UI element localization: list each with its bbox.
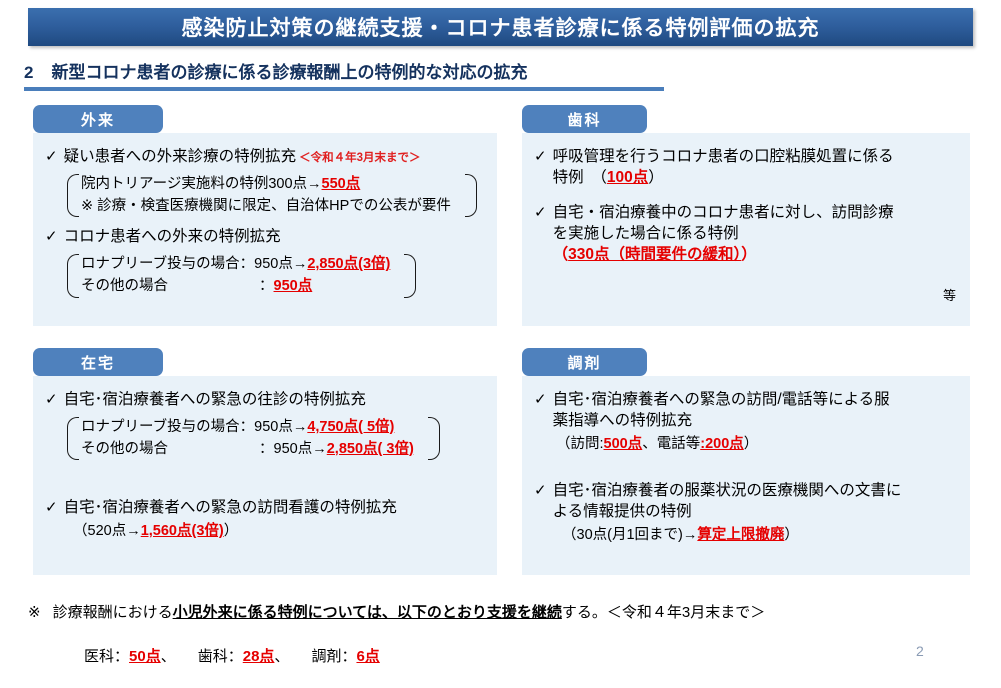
- zaitaku-bracket-1-line2-pre: その他の場合 ：950点→: [81, 441, 327, 457]
- chouzai-bullet-2-line1: 自宅･宿泊療養者の服薬状況の医療機関への文書に: [553, 482, 902, 499]
- panel-tab-gairai-label: 外来: [81, 109, 115, 130]
- chouzai-bullet-1-sub-mid: 、電話等: [642, 436, 700, 452]
- zaitaku-bracket-1-line2: その他の場合 ：950点→2,850点( 3倍): [81, 439, 414, 461]
- shika-tail-nado: 等: [943, 285, 956, 304]
- chouzai-bullet-1-sub-post: ）: [744, 436, 759, 452]
- shika-bullet-1-text: 呼吸管理を行うコロナ患者の口腔粘膜処置に係る 特例 （100点）: [553, 147, 894, 189]
- check-icon: ✓: [45, 227, 58, 247]
- gairai-bracket-2: ロナプリーブ投与の場合：950点→2,850点(3倍) その他の場合 ：950点: [67, 252, 416, 300]
- zaitaku-bullet-1-text: 自宅･宿泊療養者への緊急の往診の特例拡充: [64, 390, 366, 411]
- chouzai-bullet-1-sub-pre: （訪問:: [556, 436, 604, 452]
- shika-bullet-1-line2-pre: 特例 （: [553, 169, 607, 186]
- gairai-bracket-2-line1: ロナプリーブ投与の場合：950点→2,850点(3倍): [81, 254, 390, 276]
- zaitaku-bullet-2-sub: （520点→1,560点(3倍)）: [73, 521, 485, 542]
- footer-chouzai-label: 調剤：: [311, 648, 356, 665]
- panel-tab-zaitaku-label: 在宅: [81, 352, 115, 373]
- slide-title-text: 感染防止対策の継続支援・コロナ患者診療に係る特例評価の拡充: [182, 12, 820, 42]
- shika-bullet-1-line1: 呼吸管理を行うコロナ患者の口腔粘膜処置に係る: [553, 148, 894, 165]
- check-icon: ✓: [45, 147, 58, 167]
- shika-bullet-2-line3-pre: （: [553, 246, 569, 263]
- zaitaku-bullet-2-text: 自宅･宿泊療養者への緊急の訪問看護の特例拡充: [64, 498, 397, 519]
- footer-sep-1: 、: [161, 648, 176, 665]
- chouzai-bullet-2-line2: よる情報提供の特例: [553, 503, 692, 520]
- gairai-bracket-2-line1-pre: ロナプリーブ投与の場合：950点→: [81, 256, 307, 272]
- footer-note-post: する。＜令和４年3月末まで＞: [562, 604, 765, 621]
- gairai-bullet-1-note: ＜令和４年3月末まで＞: [299, 152, 420, 164]
- shika-bullet-1: ✓ 呼吸管理を行うコロナ患者の口腔粘膜処置に係る 特例 （100点）: [534, 147, 958, 189]
- chouzai-bullet-1-value-phone: :200点: [700, 436, 744, 452]
- panel-shika: ✓ 呼吸管理を行うコロナ患者の口腔粘膜処置に係る 特例 （100点） ✓ 自宅・…: [522, 133, 970, 326]
- chouzai-bullet-2-text: 自宅･宿泊療養者の服薬状況の医療機関への文書に よる情報提供の特例: [553, 481, 902, 523]
- zaitaku-bullet-2-value: 1,560点(3倍): [141, 523, 224, 539]
- check-icon: ✓: [45, 498, 58, 518]
- footer-note: ※ 診療報酬における小児外来に係る特例については、以下のとおり支援を継続する。＜…: [28, 602, 968, 623]
- chouzai-bullet-2-sub-post: ）: [784, 527, 799, 543]
- footer-note-text: 診療報酬における小児外来に係る特例については、以下のとおり支援を継続する。＜令和…: [53, 602, 766, 623]
- panel-zaitaku: ✓ 自宅･宿泊療養者への緊急の往診の特例拡充 ロナプリーブ投与の場合：950点→…: [33, 376, 497, 575]
- chouzai-bullet-2-sub-pre: （30点(月1回まで)→: [562, 527, 697, 543]
- shika-bullet-2: ✓ 自宅・宿泊療養中のコロナ患者に対し、訪問診療 を実施した場合に係る特例 （3…: [534, 203, 958, 266]
- shika-bullet-1-value: 100点: [607, 169, 648, 186]
- footer-note-pre: 診療報酬における: [53, 604, 173, 621]
- section-number: 2: [24, 63, 33, 83]
- chouzai-bullet-1-value-visit: 500点: [604, 436, 643, 452]
- gairai-bullet-1: ✓ 疑い患者への外来診療の特例拡充＜令和４年3月末まで＞: [45, 147, 485, 168]
- section-heading: 2 新型コロナ患者の診療に係る診療報酬上の特例的な対応の拡充: [24, 58, 664, 91]
- check-icon: ✓: [534, 390, 547, 410]
- gairai-bullet-2-text: コロナ患者への外来の特例拡充: [64, 227, 281, 248]
- check-icon: ✓: [534, 147, 547, 167]
- footer-shika-value: 28点: [243, 648, 275, 665]
- chouzai-bullet-1-text: 自宅･宿泊療養者への緊急の訪問/電話等による服 薬指導への特例拡充: [553, 390, 890, 432]
- section-title: 新型コロナ患者の診療に係る診療報酬上の特例的な対応の拡充: [51, 58, 527, 83]
- shika-bullet-2-value: 330点（時間要件の緩和）: [568, 246, 741, 263]
- footer-note-emphasis: 小児外来に係る特例については、以下のとおり支援を継続: [173, 604, 562, 621]
- panel-tab-zaitaku: 在宅: [33, 348, 163, 376]
- footer-sep-2: 、: [274, 648, 289, 665]
- panel-chouzai: ✓ 自宅･宿泊療養者への緊急の訪問/電話等による服 薬指導への特例拡充 （訪問:…: [522, 376, 970, 575]
- gairai-bullet-1-text: 疑い患者への外来診療の特例拡充＜令和４年3月末まで＞: [64, 147, 421, 168]
- gairai-bracket-2-line1-value: 2,850点(3倍): [307, 256, 390, 272]
- gairai-bracket-2-line2: その他の場合 ：950点: [81, 276, 390, 298]
- zaitaku-bracket-1-line1-pre: ロナプリーブ投与の場合：950点→: [81, 419, 307, 435]
- panel-tab-gairai: 外来: [33, 105, 163, 133]
- gairai-bracket-1-line1: 院内トリアージ実施料の特例300点→550点: [81, 174, 451, 196]
- footer-ika-label: 医科：: [84, 648, 129, 665]
- gairai-bracket-1-line1-pre: 院内トリアージ実施料の特例300点→: [81, 176, 322, 192]
- gairai-bullet-2: ✓ コロナ患者への外来の特例拡充: [45, 227, 485, 248]
- footer-shika-label: 歯科：: [198, 648, 243, 665]
- shika-bullet-1-line2-post: ）: [648, 169, 664, 186]
- zaitaku-bullet-2-sub-pre: （520点→: [73, 523, 141, 539]
- zaitaku-bullet-2: ✓ 自宅･宿泊療養者への緊急の訪問看護の特例拡充: [45, 498, 485, 519]
- zaitaku-bullet-1: ✓ 自宅･宿泊療養者への緊急の往診の特例拡充: [45, 390, 485, 411]
- footer-ika-value: 50点: [129, 648, 161, 665]
- gairai-bracket-2-line2-pre: その他の場合 ：: [81, 278, 274, 294]
- check-icon: ✓: [534, 203, 547, 223]
- footer-chouzai-value: 6点: [356, 648, 379, 665]
- zaitaku-bracket-1-line2-value: 2,850点( 3倍): [327, 441, 414, 457]
- zaitaku-bracket-1: ロナプリーブ投与の場合：950点→4,750点( 5倍) その他の場合 ：950…: [67, 415, 440, 463]
- gairai-bracket-1-line2: ※ 診療・検査医療機関に限定、自治体HPでの公表が要件: [81, 196, 451, 218]
- shika-bullet-2-text: 自宅・宿泊療養中のコロナ患者に対し、訪問診療 を実施した場合に係る特例 （330…: [553, 203, 894, 266]
- zaitaku-bullet-2-sub-post: ）: [224, 523, 239, 539]
- gairai-bracket-2-line2-value: 950点: [274, 278, 313, 294]
- chouzai-bullet-1-line1: 自宅･宿泊療養者への緊急の訪問/電話等による服: [553, 391, 890, 408]
- chouzai-bullet-2-value: 算定上限撤廃: [697, 527, 784, 543]
- page-number: 2: [916, 643, 924, 659]
- chouzai-bullet-2-sub: （30点(月1回まで)→算定上限撤廃）: [562, 525, 958, 546]
- panel-tab-chouzai: 調剤: [522, 348, 647, 376]
- chouzai-bullet-1-sub: （訪問:500点、電話等:200点）: [556, 434, 958, 455]
- slide-title-bar: 感染防止対策の継続支援・コロナ患者診療に係る特例評価の拡充: [28, 8, 973, 46]
- gairai-bullet-1-main: 疑い患者への外来診療の特例拡充: [64, 148, 297, 165]
- gairai-bracket-1: 院内トリアージ実施料の特例300点→550点 ※ 診療・検査医療機関に限定、自治…: [67, 172, 477, 220]
- zaitaku-bracket-1-line1-value: 4,750点( 5倍): [307, 419, 394, 435]
- panel-tab-shika: 歯科: [522, 105, 647, 133]
- chouzai-bullet-1: ✓ 自宅･宿泊療養者への緊急の訪問/電話等による服 薬指導への特例拡充: [534, 390, 958, 432]
- panel-gairai: ✓ 疑い患者への外来診療の特例拡充＜令和４年3月末まで＞ 院内トリアージ実施料の…: [33, 133, 497, 326]
- check-icon: ✓: [45, 390, 58, 410]
- shika-bullet-2-line3-post: ）: [741, 246, 757, 263]
- shika-bullet-2-line2: を実施した場合に係る特例: [553, 225, 739, 242]
- shika-bullet-2-line1: 自宅・宿泊療養中のコロナ患者に対し、訪問診療: [553, 204, 894, 221]
- chouzai-bullet-1-line2: 薬指導への特例拡充: [553, 412, 693, 429]
- check-icon: ✓: [534, 481, 547, 501]
- footer-marker-icon: ※: [28, 602, 41, 623]
- panel-tab-chouzai-label: 調剤: [567, 352, 601, 373]
- chouzai-bullet-2: ✓ 自宅･宿泊療養者の服薬状況の医療機関への文書に よる情報提供の特例: [534, 481, 958, 523]
- gairai-bracket-1-line1-value: 550点: [322, 176, 361, 192]
- zaitaku-bracket-1-line1: ロナプリーブ投与の場合：950点→4,750点( 5倍): [81, 417, 414, 439]
- panel-tab-shika-label: 歯科: [567, 109, 601, 130]
- footer-points-row: 医科：50点、歯科：28点、調剤：6点: [84, 645, 380, 666]
